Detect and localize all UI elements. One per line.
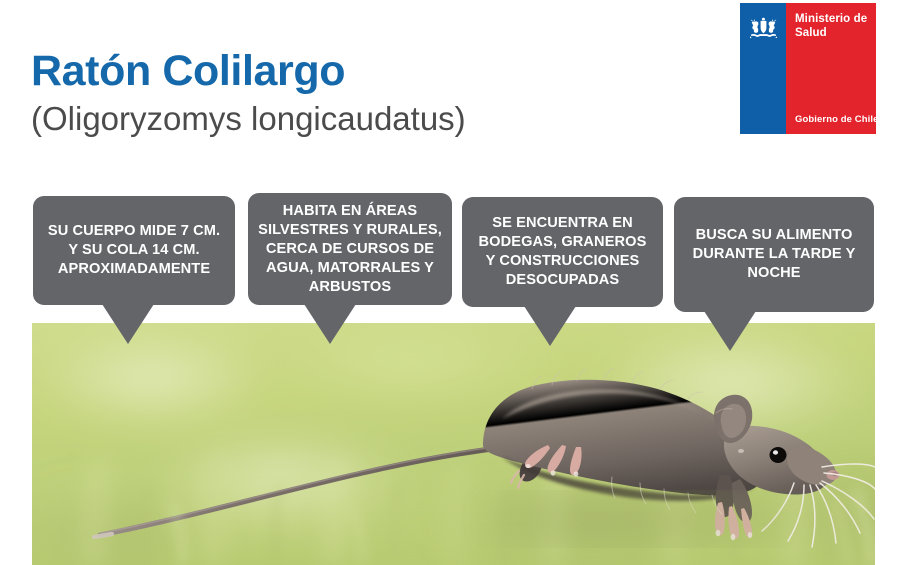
logo-ministry-line-2: Salud: [795, 26, 867, 40]
ministerio-de-salud-logo: Ministerio de Salud Gobierno de Chile: [740, 3, 876, 134]
logo-ministry-label: Ministerio de Salud: [795, 12, 867, 40]
callout-box-size: SU CUERPO MIDE 7 CM. Y SU COLA 14 CM. AP…: [33, 196, 235, 305]
callout-tail-size: [102, 304, 154, 344]
callout-text-locations: SE ENCUENTRA EN BODEGAS, GRANEROS Y CONS…: [472, 214, 653, 290]
callout-box-locations: SE ENCUENTRA EN BODEGAS, GRANEROS Y CONS…: [462, 197, 663, 307]
callout-tail-habitat: [304, 304, 356, 344]
callout-text-feeding: BUSCA SU ALIMENTO DURANTE LA TARDE Y NOC…: [684, 226, 864, 283]
page-title: Ratón Colilargo: [31, 46, 671, 96]
logo-ministry-line-1: Ministerio de: [795, 12, 867, 26]
mouse-photo-illustration: [32, 323, 875, 565]
title-block: Ratón Colilargo (Oligoryzomys longicauda…: [31, 46, 671, 140]
callout-tail-locations: [524, 306, 576, 346]
callout-box-habitat: HABITA EN ÁREAS SILVESTRES Y RURALES, CE…: [248, 193, 452, 305]
infographic-page: Ratón Colilargo (Oligoryzomys longicauda…: [0, 0, 899, 565]
callout-tail-feeding: [704, 311, 756, 351]
logo-blue-panel: [740, 3, 786, 134]
logo-government-label: Gobierno de Chile: [795, 114, 879, 125]
logo-red-panel: Ministerio de Salud Gobierno de Chile: [786, 3, 876, 134]
callout-box-feeding: BUSCA SU ALIMENTO DURANTE LA TARDE Y NOC…: [674, 197, 874, 312]
callout-text-habitat: HABITA EN ÁREAS SILVESTRES Y RURALES, CE…: [258, 202, 442, 297]
mouse-photo: [32, 323, 875, 565]
chile-coat-of-arms-icon: [747, 11, 780, 44]
page-subtitle: (Oligoryzomys longicaudatus): [31, 98, 671, 140]
callout-text-size: SU CUERPO MIDE 7 CM. Y SU COLA 14 CM. AP…: [43, 222, 225, 279]
